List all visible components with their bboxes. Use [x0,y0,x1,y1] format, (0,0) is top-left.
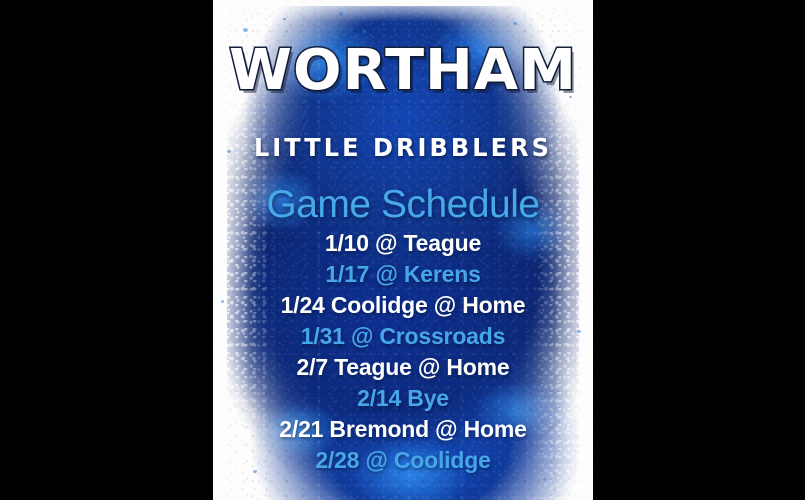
organization-subtitle: LITTLE DRIBBLERS [221,134,586,162]
section-heading-game-schedule: Game Schedule [213,183,593,227]
screenshot-canvas: WORTHAM LITTLE DRIBBLERS Game Schedule 1… [0,0,805,500]
page-title: WORTHAM [213,42,593,100]
schedule-row: 1/24 Coolidge @ Home [213,290,593,321]
schedule-row: 1/10 @ Teague [213,228,593,259]
flyer-content: WORTHAM LITTLE DRIBBLERS Game Schedule 1… [213,0,593,500]
game-schedule-flyer: WORTHAM LITTLE DRIBBLERS Game Schedule 1… [213,0,593,500]
schedule-row: 2/21 Bremond @ Home [213,414,593,445]
schedule-row: 2/28 @ Coolidge [213,445,593,476]
schedule-list: 1/10 @ Teague 1/17 @ Kerens 1/24 Coolidg… [213,228,593,476]
schedule-row: 2/7 Teague @ Home [213,352,593,383]
schedule-row: 1/17 @ Kerens [213,259,593,290]
schedule-row: 1/31 @ Crossroads [213,321,593,352]
schedule-row: 2/14 Bye [213,383,593,414]
